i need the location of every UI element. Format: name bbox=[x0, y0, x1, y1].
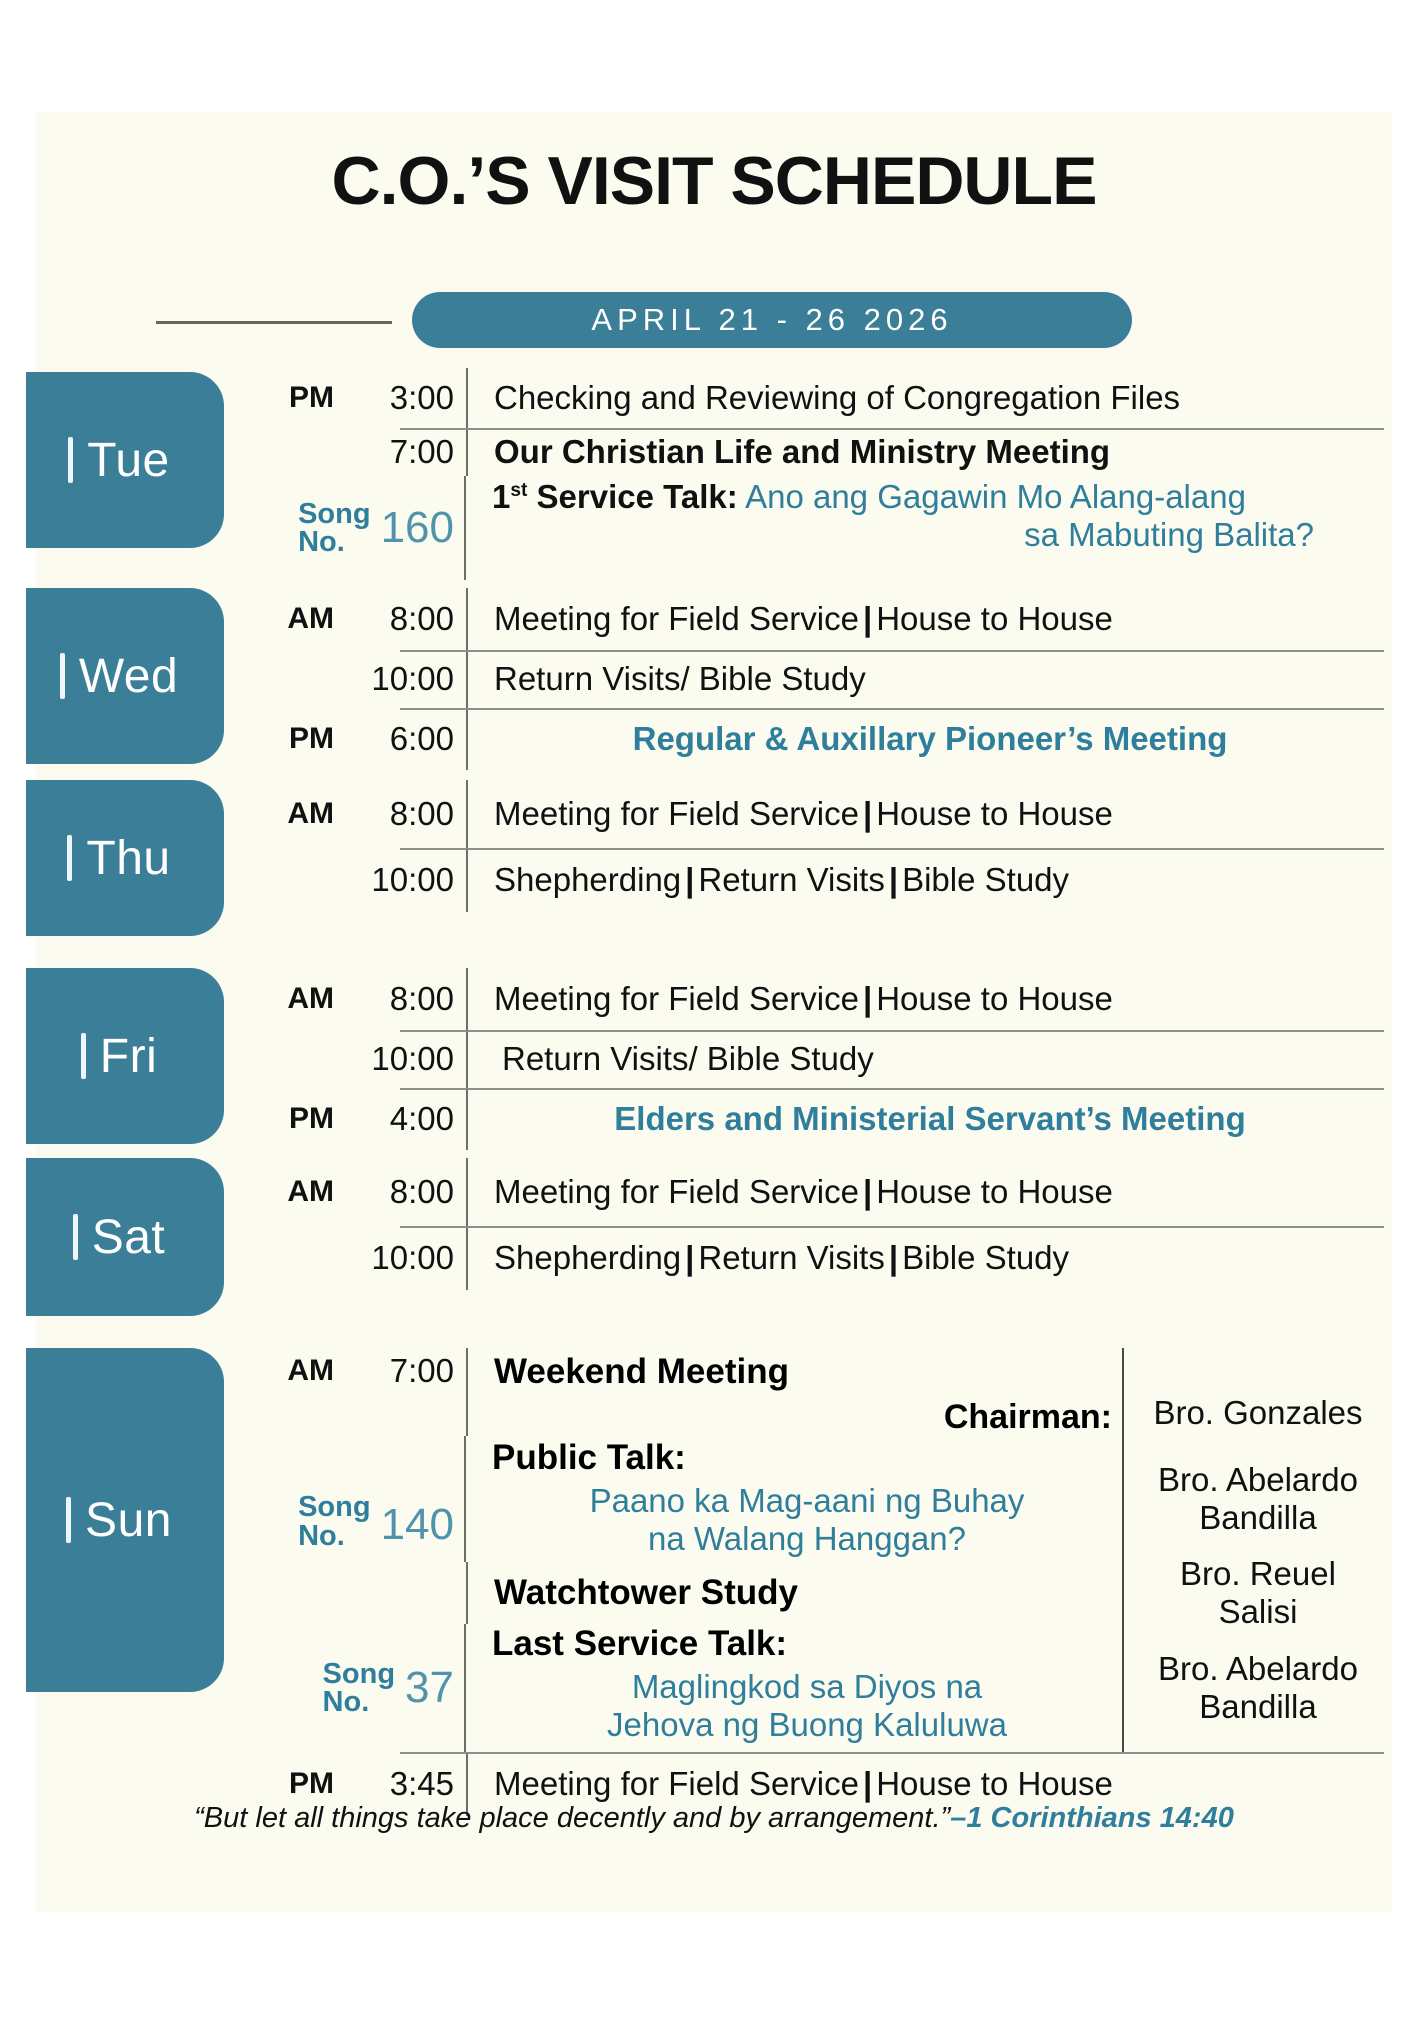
time-value: 7:00 bbox=[334, 1348, 466, 1436]
day-accent-bar-icon bbox=[68, 437, 73, 483]
speaker-line2: Bandilla bbox=[1199, 1499, 1316, 1537]
rows-thu: AM 8:00 Meeting for Field Service | Hous… bbox=[252, 780, 1392, 912]
date-range-badge: APRIL 21 - 26 2026 bbox=[412, 292, 1132, 348]
meridiem: AM bbox=[252, 968, 334, 1030]
watchtower-conductor: Bro. Reuel Salisi bbox=[1124, 1562, 1392, 1624]
pipe-separator: | bbox=[681, 861, 698, 899]
meridiem bbox=[252, 1030, 334, 1088]
activity-description: Checking and Reviewing of Congregation F… bbox=[468, 368, 1392, 428]
day-tab-wed: Wed bbox=[26, 588, 224, 764]
meridiem: AM bbox=[252, 1348, 334, 1436]
conductor-line1: Bro. Reuel bbox=[1180, 1555, 1336, 1593]
row-separator bbox=[400, 428, 1384, 430]
weekend-meeting-split: Weekend Meeting Chairman: Bro. Gonzales bbox=[468, 1348, 1392, 1436]
table-row: 10:00 Return Visits/ Bible Study bbox=[252, 650, 1392, 708]
activity-part-b: Return Visits bbox=[698, 1239, 884, 1277]
row-separator bbox=[400, 1752, 1384, 1754]
meridiem: PM bbox=[252, 368, 334, 428]
ordinal-suffix: st bbox=[510, 480, 527, 501]
song-label: Song No. bbox=[323, 1660, 396, 1717]
day-accent-bar-icon bbox=[81, 1033, 86, 1079]
day-accent-bar-icon bbox=[67, 835, 72, 881]
activity-part-c: Bible Study bbox=[902, 861, 1069, 899]
activity-part-a: Shepherding bbox=[494, 1239, 681, 1277]
day-block-wed: Wed AM 8:00 Meeting for Field Service | … bbox=[36, 588, 1392, 780]
talk-title-line2: sa Mabuting Balita? bbox=[492, 516, 1392, 554]
time-value: 10:00 bbox=[334, 1226, 466, 1290]
activity-part-c: Bible Study bbox=[902, 1239, 1069, 1277]
activity-part-b: House to House bbox=[876, 600, 1113, 638]
song-number-group: Song No. 160 bbox=[252, 476, 464, 580]
schedule-poster: C.O.’S VISIT SCHEDULE APRIL 21 - 26 2026… bbox=[0, 0, 1428, 2028]
rows-wed: AM 8:00 Meeting for Field Service | Hous… bbox=[252, 588, 1392, 770]
pipe-separator: | bbox=[859, 600, 876, 638]
row-separator bbox=[400, 1088, 1384, 1090]
public-talk-left: Public Talk: Paano ka Mag-aani ng Buhay … bbox=[466, 1436, 1122, 1562]
pipe-separator: | bbox=[885, 861, 902, 899]
time-value: 7:00 bbox=[334, 428, 466, 476]
rows-tue: PM 3:00 Checking and Reviewing of Congre… bbox=[252, 368, 1392, 580]
meridiem: PM bbox=[252, 1088, 334, 1150]
table-row: PM 6:00 Regular & Auxillary Pioneer’s Me… bbox=[252, 708, 1392, 770]
quote-text: “But let all things take place decently … bbox=[194, 1802, 950, 1834]
day-tab-sat: Sat bbox=[26, 1158, 224, 1316]
time-value: 10:00 bbox=[334, 848, 466, 912]
public-talk-split: Public Talk: Paano ka Mag-aani ng Buhay … bbox=[466, 1436, 1392, 1562]
song-number: 37 bbox=[405, 1663, 454, 1713]
day-label-sat: Sat bbox=[92, 1210, 178, 1265]
speaker-line2: Bandilla bbox=[1199, 1688, 1316, 1726]
time-value: 10:00 bbox=[334, 650, 466, 708]
row-separator bbox=[400, 650, 1384, 652]
activity-description: Meeting for Field Service | House to Hou… bbox=[468, 968, 1392, 1030]
table-row: 7:00 Our Christian Life and Ministry Mee… bbox=[252, 428, 1392, 476]
last-talk-left: Last Service Talk: Maglingkod sa Diyos n… bbox=[466, 1624, 1122, 1752]
day-block-tue: Tue PM 3:00 Checking and Reviewing of Co… bbox=[36, 368, 1392, 588]
time-value: 8:00 bbox=[334, 780, 466, 848]
speaker-line1: Bro. Abelardo bbox=[1158, 1650, 1358, 1688]
song-word: Song bbox=[298, 1493, 371, 1521]
no-word: No. bbox=[323, 1688, 396, 1716]
activity-part-b: House to House bbox=[876, 980, 1113, 1018]
public-talk-speaker: Bro. Abelardo Bandilla bbox=[1124, 1436, 1392, 1562]
activity-description: Return Visits/ Bible Study bbox=[468, 650, 1392, 708]
no-word: No. bbox=[298, 528, 371, 556]
no-word: No. bbox=[298, 1522, 371, 1550]
day-block-fri: Fri AM 8:00 Meeting for Field Service | … bbox=[36, 968, 1392, 1158]
watchtower-split: Watchtower Study Bro. Reuel Salisi bbox=[468, 1562, 1392, 1624]
activity-part-a: Shepherding bbox=[494, 861, 681, 899]
weekend-meeting-left: Weekend Meeting Chairman: bbox=[468, 1348, 1122, 1436]
activity-description: Regular & Auxillary Pioneer’s Meeting bbox=[468, 708, 1392, 770]
table-row: PM 3:00 Checking and Reviewing of Congre… bbox=[252, 368, 1392, 428]
time-value: 8:00 bbox=[334, 968, 466, 1030]
public-talk-title-line1: Paano ka Mag-aani ng Buhay bbox=[492, 1478, 1122, 1520]
pipe-separator: | bbox=[681, 1239, 698, 1277]
table-row: 10:00 Shepherding | Return Visits | Bibl… bbox=[252, 848, 1392, 912]
day-block-sun: Sun AM 7:00 Weekend Meeting Chairman: Br… bbox=[36, 1348, 1392, 1748]
public-talk-title-line2: na Walang Hanggan? bbox=[492, 1520, 1122, 1558]
row-separator bbox=[400, 848, 1384, 850]
last-talk-title-line1: Maglingkod sa Diyos na bbox=[492, 1664, 1122, 1706]
day-tab-sun: Sun bbox=[26, 1348, 224, 1692]
watchtower-study-label: Watchtower Study bbox=[468, 1562, 1122, 1624]
talk-title-line1: Ano ang Gagawin Mo Alang-alang bbox=[745, 478, 1246, 515]
activity-description: Meeting for Field Service | House to Hou… bbox=[468, 780, 1392, 848]
activity-description: Shepherding | Return Visits | Bible Stud… bbox=[468, 1226, 1392, 1290]
schedule-body: Tue PM 3:00 Checking and Reviewing of Co… bbox=[36, 368, 1392, 1748]
day-label-sun: Sun bbox=[85, 1493, 184, 1548]
activity-part-b: House to House bbox=[876, 1765, 1113, 1803]
quote-citation: –1 Corinthians 14:40 bbox=[950, 1802, 1234, 1834]
meridiem: AM bbox=[252, 588, 334, 650]
chairman-name: Bro. Gonzales bbox=[1124, 1348, 1392, 1436]
activity-description: Return Visits/ Bible Study bbox=[468, 1030, 1392, 1088]
header-date-row: APRIL 21 - 26 2026 bbox=[36, 292, 1392, 352]
song-word: Song bbox=[323, 1660, 396, 1688]
day-tab-fri: Fri bbox=[26, 968, 224, 1144]
meridiem bbox=[252, 650, 334, 708]
table-row-song-talk: Song No. 160 1st Service Talk: Ano ang G… bbox=[252, 476, 1392, 580]
table-row: AM 8:00 Meeting for Field Service | Hous… bbox=[252, 780, 1392, 848]
rows-sun: AM 7:00 Weekend Meeting Chairman: Bro. G… bbox=[252, 1348, 1392, 1816]
public-talk-label: Public Talk: bbox=[492, 1436, 1122, 1478]
table-row: 10:00 Shepherding | Return Visits | Bibl… bbox=[252, 1226, 1392, 1290]
activity-description: Elders and Ministerial Servant’s Meeting bbox=[468, 1088, 1392, 1150]
time-value: 8:00 bbox=[334, 1158, 466, 1226]
header-rule bbox=[156, 321, 392, 324]
table-row-watchtower: Watchtower Study Bro. Reuel Salisi bbox=[252, 1562, 1392, 1624]
last-talk-title-line2: Jehova ng Buong Kaluluwa bbox=[492, 1706, 1122, 1744]
song-number-group: Song No. 37 bbox=[252, 1624, 464, 1752]
row-separator bbox=[400, 708, 1384, 710]
row-separator bbox=[400, 1226, 1384, 1228]
day-label-fri: Fri bbox=[100, 1029, 169, 1084]
last-service-talk-label: Last Service Talk: bbox=[492, 1624, 1122, 1664]
time-value: 3:00 bbox=[334, 368, 466, 428]
poster-sheet: C.O.’S VISIT SCHEDULE APRIL 21 - 26 2026… bbox=[36, 112, 1392, 1912]
activity-part-b: House to House bbox=[876, 1173, 1113, 1211]
song-number-group: Song No. 140 bbox=[252, 1436, 464, 1562]
meridiem bbox=[252, 1226, 334, 1290]
rows-sat: AM 8:00 Meeting for Field Service | Hous… bbox=[252, 1158, 1392, 1290]
page-title: C.O.’S VISIT SCHEDULE bbox=[36, 142, 1392, 220]
activity-part-b: House to House bbox=[876, 795, 1113, 833]
song-number: 140 bbox=[381, 1500, 454, 1550]
activity-description: Our Christian Life and Ministry Meeting bbox=[468, 428, 1392, 476]
time-value: 4:00 bbox=[334, 1088, 466, 1150]
ordinal-number: 1 bbox=[492, 478, 510, 515]
table-row: 10:00 Return Visits/ Bible Study bbox=[252, 1030, 1392, 1088]
day-label-thu: Thu bbox=[86, 831, 182, 886]
meridiem bbox=[252, 428, 334, 476]
day-accent-bar-icon bbox=[60, 653, 65, 699]
table-row-last-service-talk: Song No. 37 Last Service Talk: Maglingko… bbox=[252, 1624, 1392, 1752]
pipe-separator: | bbox=[859, 980, 876, 1018]
day-accent-bar-icon bbox=[66, 1497, 71, 1543]
song-word: Song bbox=[298, 500, 371, 528]
song-number: 160 bbox=[381, 503, 454, 553]
weekend-meeting-label: Weekend Meeting bbox=[494, 1348, 1122, 1392]
activity-part-a: Meeting for Field Service bbox=[494, 1765, 859, 1803]
time-value bbox=[334, 1562, 466, 1624]
time-value: 8:00 bbox=[334, 588, 466, 650]
activity-part-a: Meeting for Field Service bbox=[494, 1173, 859, 1211]
activity-part-a: Meeting for Field Service bbox=[494, 980, 859, 1018]
rows-fri: AM 8:00 Meeting for Field Service | Hous… bbox=[252, 968, 1392, 1150]
song-label: Song No. bbox=[298, 500, 371, 557]
meridiem bbox=[252, 848, 334, 912]
day-accent-bar-icon bbox=[73, 1214, 78, 1260]
meridiem bbox=[252, 1562, 334, 1624]
pipe-separator: | bbox=[885, 1239, 902, 1277]
service-talk-cell: 1st Service Talk: Ano ang Gagawin Mo Ala… bbox=[466, 476, 1392, 580]
activity-part-b: Return Visits bbox=[698, 861, 884, 899]
table-row-public-talk: Song No. 140 Public Talk: Paano ka Mag-a… bbox=[252, 1436, 1392, 1562]
pipe-separator: | bbox=[859, 1765, 876, 1803]
speaker-line1: Bro. Abelardo bbox=[1158, 1461, 1358, 1499]
day-tab-thu: Thu bbox=[26, 780, 224, 936]
meridiem: AM bbox=[252, 780, 334, 848]
time-value: 6:00 bbox=[334, 708, 466, 770]
table-row: PM 4:00 Elders and Ministerial Servant’s… bbox=[252, 1088, 1392, 1150]
chairman-label: Chairman: bbox=[494, 1392, 1122, 1437]
last-talk-split: Last Service Talk: Maglingkod sa Diyos n… bbox=[466, 1624, 1392, 1752]
table-row: AM 8:00 Meeting for Field Service | Hous… bbox=[252, 588, 1392, 650]
row-separator bbox=[400, 1030, 1384, 1032]
activity-part-a: Meeting for Field Service bbox=[494, 795, 859, 833]
footer-quote: “But let all things take place decently … bbox=[36, 1802, 1392, 1835]
service-talk-label: Service Talk: bbox=[537, 478, 738, 515]
table-row: AM 8:00 Meeting for Field Service | Hous… bbox=[252, 1158, 1392, 1226]
meridiem: AM bbox=[252, 1158, 334, 1226]
day-tab-tue: Tue bbox=[26, 372, 224, 548]
meridiem: PM bbox=[252, 708, 334, 770]
activity-description: Shepherding | Return Visits | Bible Stud… bbox=[468, 848, 1392, 912]
activity-description: Meeting for Field Service | House to Hou… bbox=[468, 588, 1392, 650]
day-label-tue: Tue bbox=[87, 433, 181, 488]
day-label-wed: Wed bbox=[79, 649, 190, 704]
activity-description: Meeting for Field Service | House to Hou… bbox=[468, 1158, 1392, 1226]
pipe-separator: | bbox=[859, 1173, 876, 1211]
time-value: 10:00 bbox=[334, 1030, 466, 1088]
last-talk-speaker: Bro. Abelardo Bandilla bbox=[1124, 1624, 1392, 1752]
table-row: AM 8:00 Meeting for Field Service | Hous… bbox=[252, 968, 1392, 1030]
day-block-thu: Thu AM 8:00 Meeting for Field Service | … bbox=[36, 780, 1392, 968]
day-block-sat: Sat AM 8:00 Meeting for Field Service | … bbox=[36, 1158, 1392, 1348]
activity-part-a: Meeting for Field Service bbox=[494, 600, 859, 638]
table-row-weekend-meeting: AM 7:00 Weekend Meeting Chairman: Bro. G… bbox=[252, 1348, 1392, 1436]
pipe-separator: | bbox=[859, 795, 876, 833]
song-label: Song No. bbox=[298, 1493, 371, 1550]
